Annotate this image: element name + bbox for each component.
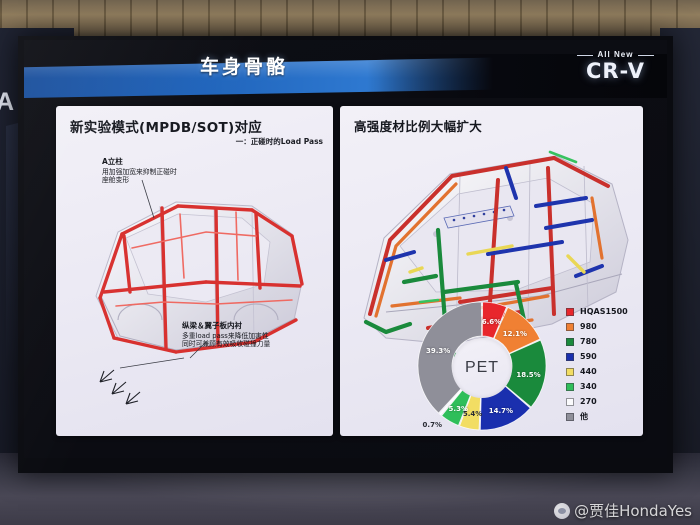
weibo-watermark: @贾佳HondaYes	[554, 500, 692, 521]
legend-label: 590	[580, 352, 597, 361]
legend-label: 340	[580, 382, 597, 391]
legend-swatch	[566, 383, 574, 391]
legend-label: 440	[580, 367, 597, 376]
crv-name: CR-V	[586, 62, 645, 82]
crv-logo: All New CR-V	[586, 44, 645, 82]
body-frame-diagram-left	[56, 106, 333, 436]
annotation-a-pillar: A立柱 用加强加宽来抑制正碰时 座舱变形	[102, 156, 177, 185]
crv-tagline: All New	[588, 50, 644, 59]
legend-label: 780	[580, 337, 597, 346]
slide: 车身骨骼 All New CR-V 新实验模式(MPDB/SOT)对应 一：正碰…	[24, 40, 667, 458]
legend-label: 他	[580, 411, 588, 422]
donut-slice-label: 12.1%	[503, 330, 527, 338]
right-panel: 高强度材比例大幅扩大	[340, 106, 643, 436]
chart-legend-item: 980	[566, 319, 642, 334]
chart-legend-item: 780	[566, 334, 642, 349]
chart-legend-item: 440	[566, 364, 642, 379]
left-panel: 新实验模式(MPDB/SOT)对应 一：正碰时的Load Pass	[56, 106, 333, 436]
slide-header	[24, 54, 667, 98]
legend-swatch	[566, 308, 574, 316]
material-ratio-chart: PET 6.6%12.1%18.5%14.7%5.4%5.3%0.7%39.3%…	[416, 302, 642, 434]
annotation-side-member-line2: 同时可兼顾有效吸收碰撞力量	[182, 340, 270, 348]
donut-slice-label: 18.5%	[516, 371, 540, 379]
donut-slice-label: 0.7%	[423, 421, 442, 429]
annotation-a-pillar-line2: 座舱变形	[102, 176, 177, 184]
legend-swatch	[566, 398, 574, 406]
legend-swatch	[566, 338, 574, 346]
slide-title: 车身骨骼	[200, 52, 288, 79]
chart-legend: HQAS1500980780590440340270他	[566, 304, 642, 424]
chart-legend-item: 270	[566, 394, 642, 409]
legend-swatch	[566, 413, 574, 421]
donut-slice-label: 39.3%	[426, 347, 450, 355]
donut-slice-label: 14.7%	[489, 407, 513, 415]
annotation-side-member: 纵梁＆翼子板内衬 多重load pass来降低加害性 同时可兼顾有效吸收碰撞力量	[182, 320, 270, 349]
legend-label: 980	[580, 322, 597, 331]
chart-legend-item: 340	[566, 379, 642, 394]
annotation-a-pillar-heading: A立柱	[102, 156, 177, 167]
legend-label: 270	[580, 397, 597, 406]
donut-slice-label: 6.6%	[482, 318, 501, 326]
chart-legend-item: 他	[566, 409, 642, 424]
donut-center-label: PET	[452, 338, 512, 398]
legend-swatch	[566, 323, 574, 331]
weibo-icon	[554, 503, 570, 519]
legend-label: HQAS1500	[580, 307, 628, 316]
donut-slice-label: 5.3%	[449, 405, 468, 413]
legend-swatch	[566, 368, 574, 376]
chart-legend-item: HQAS1500	[566, 304, 642, 319]
presentation-screen: 车身骨骼 All New CR-V 新实验模式(MPDB/SOT)对应 一：正碰…	[18, 36, 673, 473]
legend-swatch	[566, 353, 574, 361]
weibo-handle: @贾佳HondaYes	[574, 500, 692, 521]
annotation-side-member-heading: 纵梁＆翼子板内衬	[182, 320, 270, 331]
chart-legend-item: 590	[566, 349, 642, 364]
